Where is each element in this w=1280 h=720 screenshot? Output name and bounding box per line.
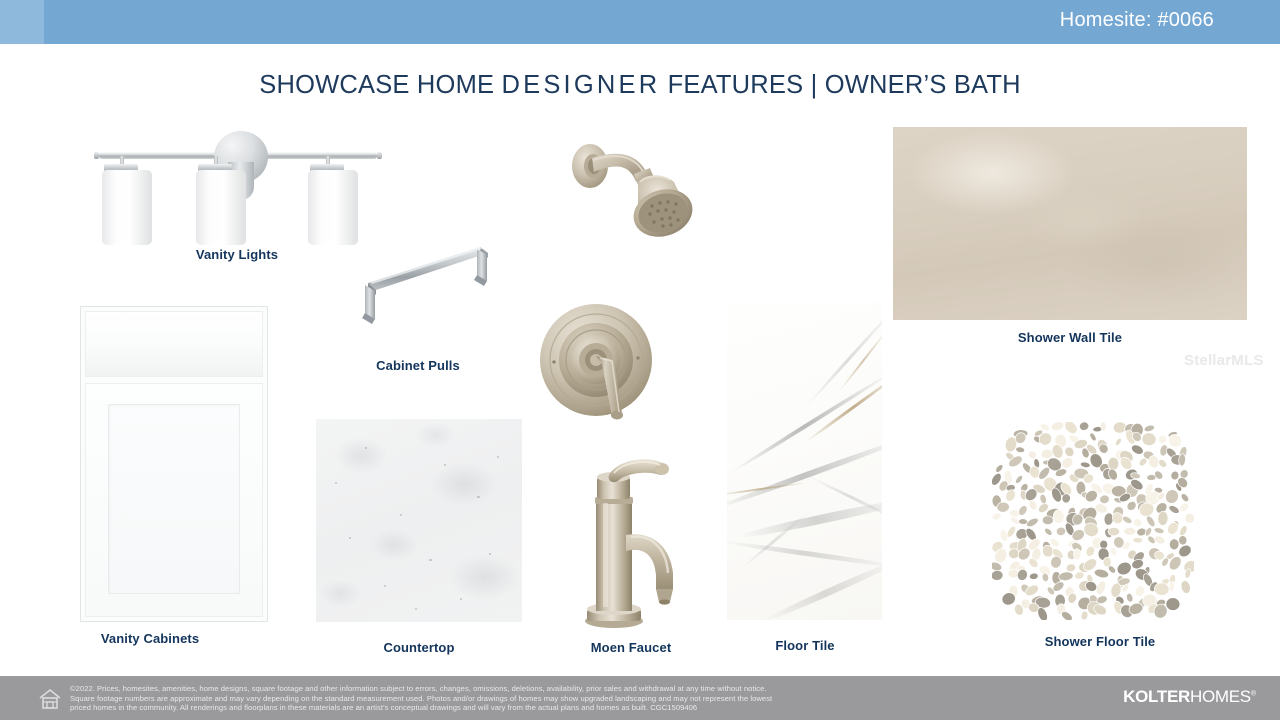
footer-disclaimer: ©2022. Prices, homesites, amenities, hom… <box>70 684 1080 713</box>
lavatory-faucet-icon <box>576 455 692 630</box>
cabinet-pull-handle-icon <box>352 243 500 335</box>
page-title-part3: FEATURES | OWNER’S BATH <box>660 71 1020 99</box>
disclaimer-line-3: priced homes in the community. All rende… <box>70 703 1080 713</box>
shaker-cabinet-door-icon <box>80 306 268 622</box>
shower-valve-trim-icon <box>536 300 664 428</box>
cabinet-door-front <box>85 383 263 617</box>
caption-moen-faucet: Moen Faucet <box>531 640 731 655</box>
quartz-swatch-icon <box>316 419 522 622</box>
equal-housing-opportunity-icon <box>38 687 62 711</box>
caption-shower-floor-tile: Shower Floor Tile <box>1000 634 1200 649</box>
caption-vanity-cabinets: Vanity Cabinets <box>50 631 250 646</box>
vanity-light-fixture-icon <box>88 122 388 244</box>
disclaimer-line-2: Square footage numbers are approximate a… <box>70 694 1080 704</box>
logo-trademark: ® <box>1251 690 1256 697</box>
cabinet-pull-svg <box>352 243 500 335</box>
light-shade-1 <box>102 170 152 245</box>
light-shade-3 <box>308 170 358 245</box>
page-title: SHOWCASE HOME DESIGNER FEATURES | OWNER’… <box>0 71 1280 100</box>
cabinet-recessed-panel <box>108 404 240 594</box>
disclaimer-line-1: ©2022. Prices, homesites, amenities, hom… <box>70 684 1080 694</box>
pebble-mosaic-swatch-icon <box>992 422 1194 620</box>
caption-cabinet-pulls: Cabinet Pulls <box>326 358 510 373</box>
shower-head-icon <box>566 130 706 250</box>
kolter-homes-logo: KOLTERHOMES® <box>1123 687 1256 707</box>
stellar-mls-watermark: StellarMLS <box>1184 352 1264 369</box>
homesite-number: Homesite: #0066 <box>1060 9 1214 32</box>
slide-canvas: Homesite: #0066 SHOWCASE HOME DESIGNER F… <box>0 0 1280 720</box>
caption-floor-tile: Floor Tile <box>705 638 905 653</box>
light-bar-cap-right <box>377 152 382 159</box>
page-title-designer: DESIGNER <box>502 71 661 99</box>
marble-tile-swatch-icon <box>727 302 882 620</box>
wall-tile-texture <box>893 127 1247 320</box>
shower-head-svg <box>566 130 706 250</box>
floor-tile-texture <box>727 302 882 620</box>
logo-kolter: KOLTER <box>1123 687 1190 706</box>
light-bar-cap-left <box>94 152 99 159</box>
caption-shower-wall-tile: Shower Wall Tile <box>970 330 1170 345</box>
countertop-texture <box>316 419 522 622</box>
pebble-mosaic-svg <box>992 422 1194 620</box>
shower-valve-svg <box>536 300 664 428</box>
caption-vanity-lights: Vanity Lights <box>137 247 337 262</box>
header-accent-square <box>0 0 44 44</box>
beige-tile-swatch-icon <box>893 127 1247 320</box>
caption-countertop: Countertop <box>319 640 519 655</box>
page-title-part1: SHOWCASE HOME <box>259 71 501 99</box>
faucet-svg <box>576 455 692 630</box>
logo-homes: HOMES <box>1190 687 1251 706</box>
light-shade-2 <box>196 170 246 245</box>
cabinet-drawer-front <box>85 311 263 377</box>
